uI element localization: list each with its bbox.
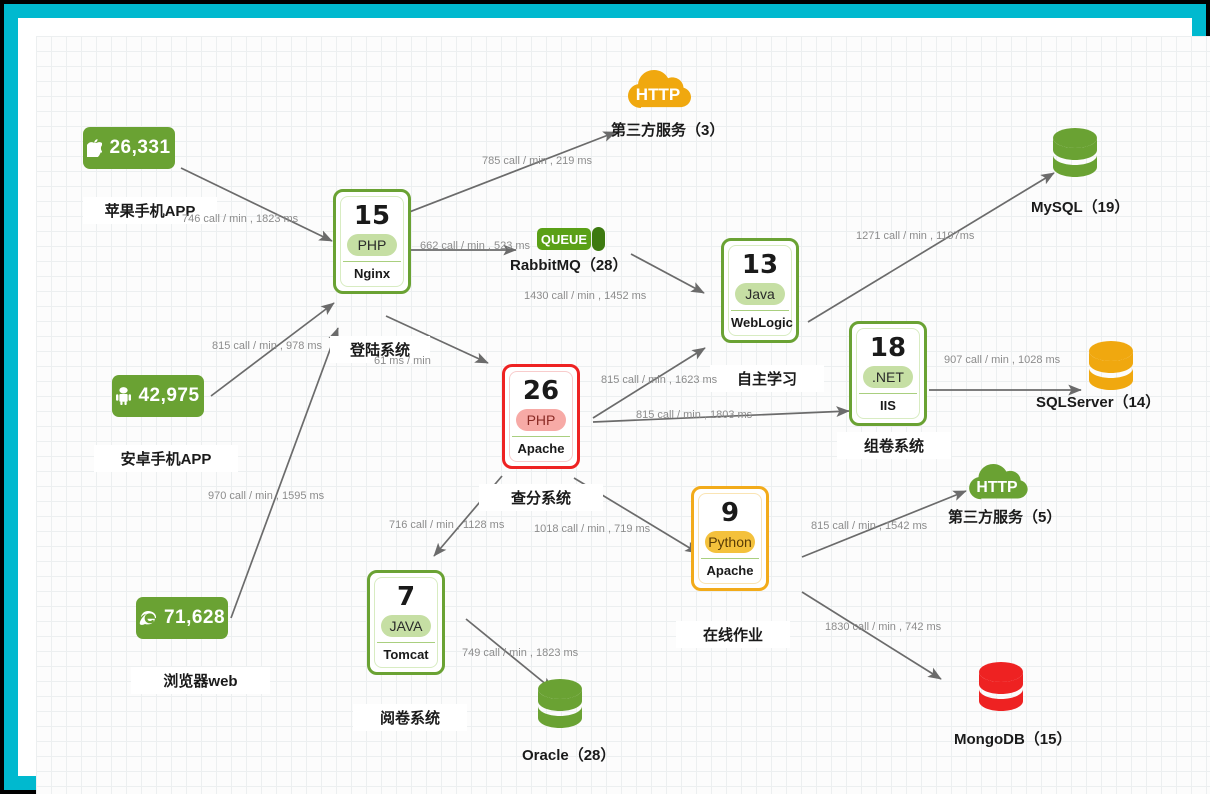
app-server-name: IIS bbox=[859, 393, 917, 418]
app-server-name: Nginx bbox=[343, 261, 401, 286]
database-green-icon bbox=[534, 678, 586, 740]
resource-node-thirdparty-5[interactable]: HTTP bbox=[966, 451, 1028, 508]
client-value: 71,628 bbox=[164, 607, 225, 629]
edge-label-web-to-login: 970 call / min , 1595 ms bbox=[208, 490, 324, 502]
app-instance-count: 9 bbox=[701, 498, 759, 528]
queue-icon: QUEUE bbox=[536, 224, 608, 254]
app-language-badge: .NET bbox=[863, 366, 913, 388]
edge-label-weblogic-to-mysql: 1271 call / min , 1197ms bbox=[856, 230, 974, 242]
app-node-homework[interactable]: 9 Python Apache bbox=[691, 486, 769, 591]
app-caption-homework: 在线作业 bbox=[676, 621, 790, 648]
app-instance-count: 18 bbox=[859, 333, 917, 363]
client-node-android[interactable]: 42,975 bbox=[112, 375, 204, 417]
client-value: 42,975 bbox=[138, 385, 199, 407]
client-caption-android: 安卓手机APP bbox=[94, 445, 238, 472]
app-caption-paperbuild: 组卷系统 bbox=[837, 432, 951, 459]
resource-node-thirdparty-3[interactable]: HTTP bbox=[625, 56, 691, 117]
app-caption-selfstudy: 自主学习 bbox=[710, 365, 824, 392]
app-language-badge: Java bbox=[735, 283, 785, 305]
cloud-http-green-icon: HTTP bbox=[966, 451, 1028, 503]
resource-caption-thirdparty-5: 第三方服务（5） bbox=[948, 506, 1061, 527]
edge-label-rabbitmq-to-weblogic: 1430 call / min , 1452 ms bbox=[524, 290, 646, 302]
topology-canvas[interactable]: 26,331 苹果手机APP 42,975 安卓手机APP bbox=[36, 36, 1210, 794]
edge-weblogic-to-mysql bbox=[808, 173, 1054, 322]
edge-label-iis-to-sqlserver: 907 call / min , 1028 ms bbox=[944, 354, 1060, 366]
svg-text:QUEUE: QUEUE bbox=[541, 232, 588, 247]
app-server-name: Tomcat bbox=[377, 642, 435, 667]
app-instance-count: 26 bbox=[512, 376, 570, 406]
cloud-http-orange-icon: HTTP bbox=[625, 56, 691, 112]
app-node-selfstudy[interactable]: 13 Java WebLogic bbox=[721, 238, 799, 343]
edge-label-android-to-login: 815 call / min , 978 ms bbox=[212, 340, 322, 352]
app-node-inner: 7 JAVA Tomcat bbox=[374, 577, 438, 668]
resource-caption-oracle: Oracle（28） bbox=[522, 744, 615, 765]
app-node-marking[interactable]: 7 JAVA Tomcat bbox=[367, 570, 445, 675]
app-language-badge: Python bbox=[705, 531, 755, 553]
app-caption-marking: 阅卷系统 bbox=[353, 704, 467, 731]
resource-caption-thirdparty-3: 第三方服务（3） bbox=[611, 119, 724, 140]
edge-label-login-to-score: 61 ms / min bbox=[374, 355, 431, 367]
edge-label-python-to-mongodb: 1830 call / min , 742 ms bbox=[825, 621, 941, 633]
app-node-paperbuild[interactable]: 18 .NET IIS bbox=[849, 321, 927, 426]
app-node-score[interactable]: 26 PHP Apache bbox=[502, 364, 580, 469]
app-node-inner: 9 Python Apache bbox=[698, 493, 762, 584]
resource-node-oracle[interactable] bbox=[534, 678, 586, 745]
app-instance-count: 13 bbox=[731, 250, 789, 280]
android-icon bbox=[116, 387, 131, 405]
resource-node-mysql[interactable] bbox=[1049, 127, 1101, 194]
resource-node-mongodb[interactable] bbox=[975, 661, 1027, 728]
ie-browser-icon bbox=[139, 609, 157, 627]
edge-label-tomcat-to-oracle: 749 call / min , 1823 ms bbox=[462, 647, 578, 659]
edge-label-login-to-3rdparty3: 785 call / min , 219 ms bbox=[482, 155, 592, 167]
app-node-login[interactable]: 15 PHP Nginx bbox=[333, 189, 411, 294]
edge-label-python-to-3rdparty5: 815 call / min , 1542 ms bbox=[811, 520, 927, 532]
resource-caption-mongodb: MongoDB（15） bbox=[954, 728, 1072, 749]
app-server-name: WebLogic bbox=[731, 310, 789, 335]
client-node-apple[interactable]: 26,331 bbox=[83, 127, 175, 169]
app-caption-score: 查分系统 bbox=[479, 484, 603, 511]
edge-label-apple-to-login: 746 call / min , 1823 ms bbox=[182, 213, 298, 225]
edge-rabbitmq-to-weblogic bbox=[631, 254, 704, 293]
app-node-inner: 18 .NET IIS bbox=[856, 328, 920, 419]
app-node-inner: 13 Java WebLogic bbox=[728, 245, 792, 336]
teal-border: 26,331 苹果手机APP 42,975 安卓手机APP bbox=[4, 4, 1206, 790]
edge-label-score-to-weblogic: 815 call / min , 1623 ms bbox=[601, 374, 717, 386]
database-green-icon bbox=[1049, 127, 1101, 189]
screenshot-frame: 26,331 苹果手机APP 42,975 安卓手机APP bbox=[0, 0, 1210, 794]
edge-web-to-login bbox=[231, 328, 338, 618]
app-node-inner: 26 PHP Apache bbox=[509, 371, 573, 462]
edge-python-to-mongodb bbox=[802, 592, 941, 679]
client-node-browser[interactable]: 71,628 bbox=[136, 597, 228, 639]
resource-caption-sqlserver: SQLServer（14） bbox=[1036, 391, 1160, 412]
resource-caption-rabbitmq: RabbitMQ（28） bbox=[510, 254, 628, 275]
app-language-badge: PHP bbox=[516, 409, 566, 431]
app-node-inner: 15 PHP Nginx bbox=[340, 196, 404, 287]
edge-label-login-to-rabbitmq: 662 call / min , 523 ms bbox=[420, 240, 530, 252]
client-value: 26,331 bbox=[109, 137, 170, 159]
app-server-name: Apache bbox=[701, 558, 759, 583]
edge-label-score-to-tomcat: 716 call / min , 1128 ms bbox=[389, 519, 504, 531]
app-instance-count: 15 bbox=[343, 201, 401, 231]
app-server-name: Apache bbox=[512, 436, 570, 461]
resource-caption-mysql: MySQL（19） bbox=[1031, 196, 1129, 217]
app-language-badge: PHP bbox=[347, 234, 397, 256]
database-red-icon bbox=[975, 661, 1027, 723]
svg-text:HTTP: HTTP bbox=[976, 479, 1017, 496]
svg-text:HTTP: HTTP bbox=[636, 85, 680, 104]
edge-label-score-to-python: 1018 call / min , 719 ms bbox=[534, 523, 650, 535]
app-instance-count: 7 bbox=[377, 582, 435, 612]
client-caption-browser: 浏览器web bbox=[131, 667, 270, 694]
edge-label-score-to-iis: 815 call / min , 1803 ms bbox=[636, 409, 752, 421]
apple-icon bbox=[87, 139, 102, 157]
app-language-badge: JAVA bbox=[381, 615, 431, 637]
